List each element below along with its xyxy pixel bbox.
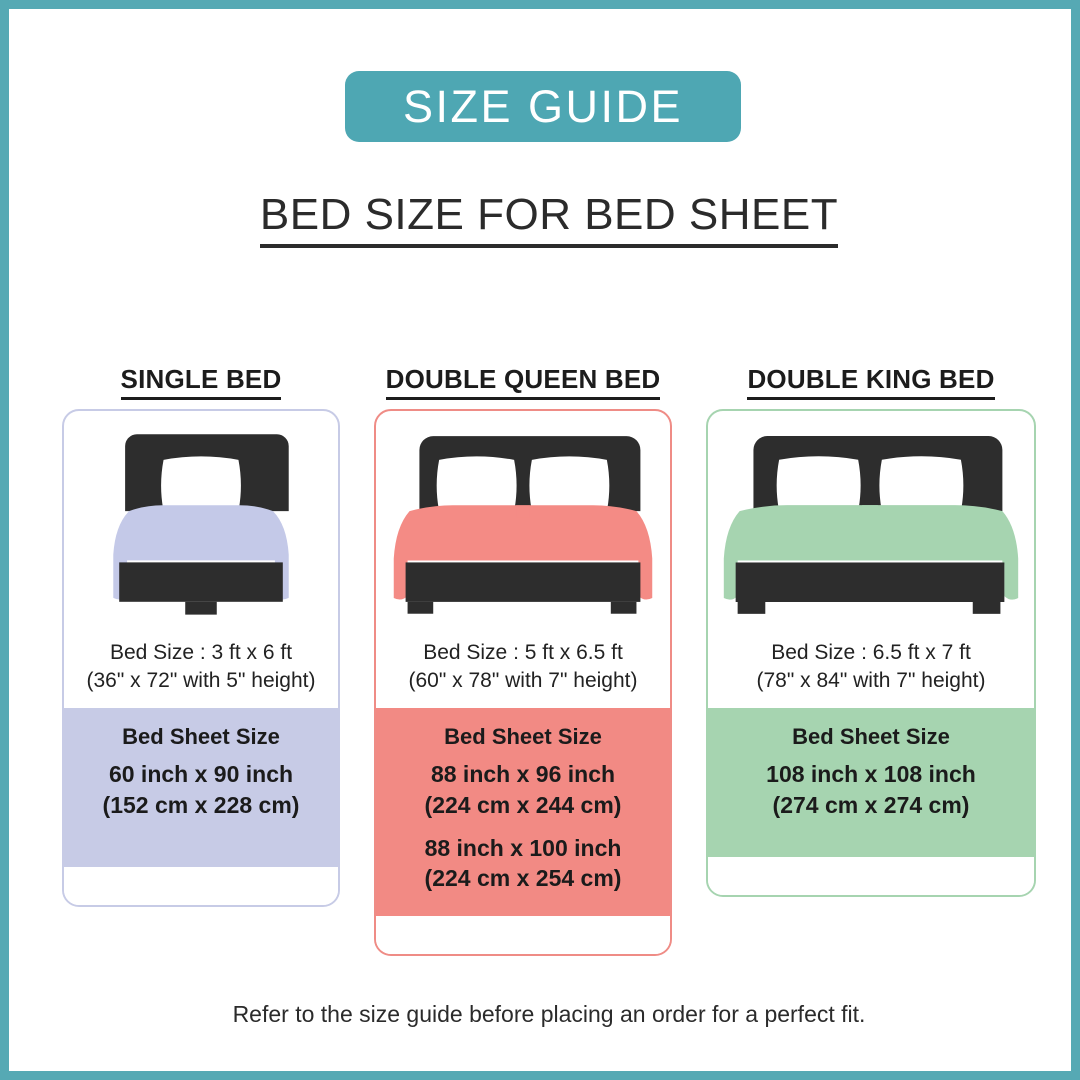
card-double-king-bed: Bed Size : 6.5 ft x 7 ft (78" x 84" with… xyxy=(706,409,1036,897)
column-title-single-bed: SINGLE BED xyxy=(121,364,282,395)
page-title: BED SIZE FOR BED SHEET xyxy=(9,190,1080,240)
sheet-size-band-double-king: Bed Sheet Size 108 inch x 108 inch (274 … xyxy=(708,708,1034,856)
column-title-double-king-bed: DOUBLE KING BED xyxy=(747,364,994,395)
size-guide-badge-label: SIZE GUIDE xyxy=(403,81,683,133)
sheet-size-band-single: Bed Sheet Size 60 inch x 90 inch (152 cm… xyxy=(64,708,338,866)
bed-size-line: (60" x 78" with 7" height) xyxy=(382,667,664,695)
bed-size-text-double-king: Bed Size : 6.5 ft x 7 ft (78" x 84" with… xyxy=(708,629,1034,708)
card-footer-strip xyxy=(64,867,338,905)
card-footer-strip xyxy=(376,916,670,954)
bed-size-line: (36" x 72" with 5" height) xyxy=(70,667,332,695)
sheet-size-cm: (224 cm x 244 cm) xyxy=(382,790,664,821)
page-title-text: BED SIZE FOR BED SHEET xyxy=(260,190,838,248)
bed-size-columns: SINGLE BED xyxy=(9,364,1080,956)
column-title-single-bed-text: SINGLE BED xyxy=(121,364,282,400)
sheet-size-cm: (274 cm x 274 cm) xyxy=(714,790,1028,821)
card-double-queen-bed: Bed Size : 5 ft x 6.5 ft (60" x 78" with… xyxy=(374,409,672,956)
bed-size-line: Bed Size : 5 ft x 6.5 ft xyxy=(382,639,664,667)
bed-size-text-double-queen: Bed Size : 5 ft x 6.5 ft (60" x 78" with… xyxy=(376,629,670,708)
column-title-double-queen-bed-text: DOUBLE QUEEN BED xyxy=(386,364,661,400)
sheet-size-heading: Bed Sheet Size xyxy=(382,724,664,750)
double-queen-bed-icon xyxy=(376,411,670,629)
sheet-size-inch: 88 inch x 100 inch xyxy=(382,833,664,864)
bed-size-text-single: Bed Size : 3 ft x 6 ft (36" x 72" with 5… xyxy=(64,629,338,708)
size-guide-poster: SIZE GUIDE BED SIZE FOR BED SHEET SINGLE… xyxy=(0,0,1080,1080)
size-guide-badge: SIZE GUIDE xyxy=(345,71,741,142)
footer-note: Refer to the size guide before placing a… xyxy=(9,1001,1080,1028)
card-single-bed: Bed Size : 3 ft x 6 ft (36" x 72" with 5… xyxy=(62,409,340,907)
column-single-bed: SINGLE BED xyxy=(62,364,340,907)
card-footer-strip xyxy=(708,857,1034,895)
sheet-size-option: 88 inch x 96 inch (224 cm x 244 cm) xyxy=(382,759,664,820)
column-title-double-king-bed-text: DOUBLE KING BED xyxy=(747,364,994,400)
bed-size-line: Bed Size : 3 ft x 6 ft xyxy=(70,639,332,667)
sheet-size-band-double-queen: Bed Sheet Size 88 inch x 96 inch (224 cm… xyxy=(376,708,670,915)
sheet-size-cm: (224 cm x 254 cm) xyxy=(382,863,664,894)
sheet-size-heading: Bed Sheet Size xyxy=(70,724,332,750)
column-title-double-queen-bed: DOUBLE QUEEN BED xyxy=(386,364,661,395)
column-double-queen-bed: DOUBLE QUEEN BED xyxy=(374,364,672,956)
sheet-size-inch: 108 inch x 108 inch xyxy=(714,759,1028,790)
sheet-size-inch: 60 inch x 90 inch xyxy=(70,759,332,790)
sheet-size-option: 108 inch x 108 inch (274 cm x 274 cm) xyxy=(714,759,1028,820)
double-king-bed-icon xyxy=(708,411,1034,629)
sheet-size-option: 88 inch x 100 inch (224 cm x 254 cm) xyxy=(382,833,664,894)
sheet-size-cm: (152 cm x 228 cm) xyxy=(70,790,332,821)
bed-size-line: (78" x 84" with 7" height) xyxy=(714,667,1028,695)
sheet-size-option: 60 inch x 90 inch (152 cm x 228 cm) xyxy=(70,759,332,820)
sheet-size-inch: 88 inch x 96 inch xyxy=(382,759,664,790)
column-double-king-bed: DOUBLE KING BED xyxy=(706,364,1036,897)
single-bed-icon xyxy=(64,411,338,629)
bed-size-line: Bed Size : 6.5 ft x 7 ft xyxy=(714,639,1028,667)
sheet-size-heading: Bed Sheet Size xyxy=(714,724,1028,750)
